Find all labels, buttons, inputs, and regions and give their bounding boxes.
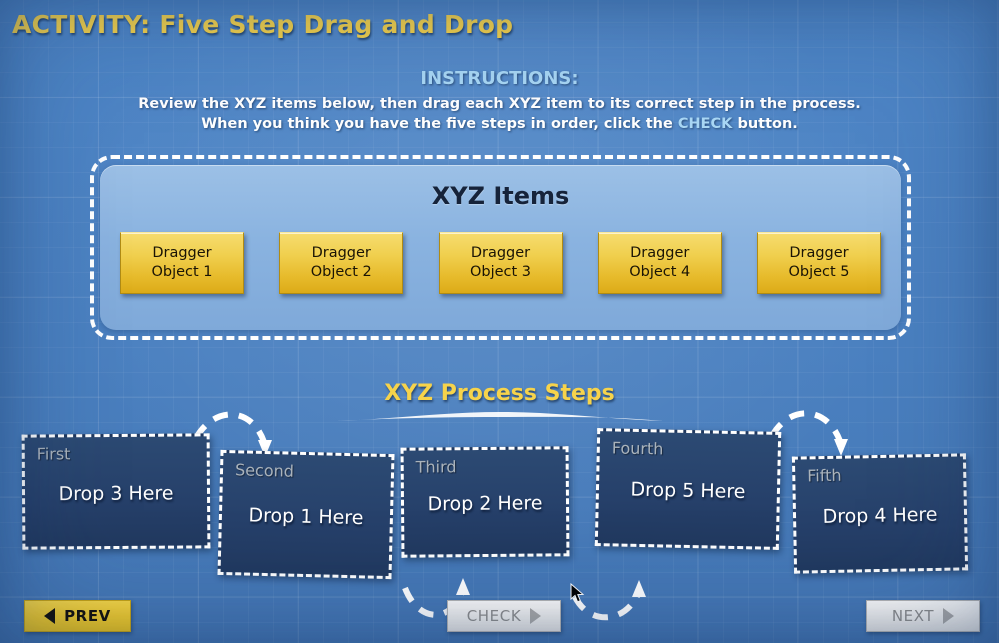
- xyz-items-panel: XYZ Items Dragger Object 1 Dragger Objec…: [90, 155, 911, 340]
- dragger-object-4-line1: Dragger: [630, 244, 689, 263]
- page-title: ACTIVITY: Five Step Drag and Drop: [12, 10, 513, 39]
- triangle-left-icon: [44, 608, 55, 624]
- dropzone-third-text: Drop 2 Here: [404, 492, 566, 515]
- dropzone-third-label: Third: [416, 457, 457, 476]
- dragger-object-5-line1: Dragger: [789, 244, 848, 263]
- dropzone-fourth-label: Fourth: [612, 438, 664, 458]
- prev-button[interactable]: PREV: [24, 600, 131, 632]
- dragger-object-1[interactable]: Dragger Object 1: [120, 232, 244, 294]
- check-button[interactable]: CHECK: [447, 600, 561, 632]
- instructions-check-keyword: CHECK: [678, 116, 733, 132]
- dragger-object-2-line1: Dragger: [312, 244, 371, 263]
- xyz-items-title: XYZ Items: [100, 182, 901, 210]
- arrow-path-4-to-5: [772, 413, 840, 441]
- swoosh-divider-icon: [335, 409, 665, 425]
- instructions-heading: INSTRUCTIONS:: [0, 66, 999, 92]
- dragger-list: Dragger Object 1 Dragger Object 2 Dragge…: [120, 232, 881, 294]
- dragger-object-5-line2: Object 5: [788, 263, 849, 282]
- dragger-object-3-line1: Dragger: [471, 244, 530, 263]
- xyz-items-panel-inner: XYZ Items Dragger Object 1 Dragger Objec…: [100, 165, 901, 330]
- dropzone-first[interactable]: First Drop 3 Here: [22, 433, 211, 549]
- dropzone-fifth-label: Fifth: [807, 466, 842, 486]
- instructions-line-2-prefix: When you think you have the five steps i…: [201, 116, 678, 132]
- dragger-object-2[interactable]: Dragger Object 2: [279, 232, 403, 294]
- dragger-object-1-line1: Dragger: [152, 244, 211, 263]
- activity-stage: ACTIVITY: Five Step Drag and Drop INSTRU…: [0, 0, 999, 643]
- dragger-object-4[interactable]: Dragger Object 4: [598, 232, 722, 294]
- dragger-object-2-line2: Object 2: [311, 263, 372, 282]
- prev-button-label: PREV: [64, 607, 111, 625]
- mouse-cursor-icon: [570, 583, 586, 605]
- arrow-path-3-to-4: [575, 594, 638, 617]
- dragger-object-3-line2: Object 3: [470, 263, 531, 282]
- dragger-object-3[interactable]: Dragger Object 3: [439, 232, 563, 294]
- dropzone-first-text: Drop 3 Here: [25, 482, 207, 505]
- instructions-line-1: Review the XYZ items below, then drag ea…: [0, 94, 999, 115]
- check-button-label: CHECK: [467, 607, 522, 625]
- arrowhead-4-to-5-icon: [834, 439, 848, 456]
- instructions-line-2: When you think you have the five steps i…: [0, 114, 999, 135]
- dropzone-fourth[interactable]: Fourth Drop 5 Here: [595, 428, 781, 550]
- dragger-object-1-line2: Object 1: [151, 263, 212, 282]
- instructions-block: INSTRUCTIONS: Review the XYZ items below…: [0, 66, 999, 135]
- dropzone-first-label: First: [37, 444, 71, 463]
- arrowhead-2-to-3-icon: [456, 578, 470, 595]
- dropzone-fourth-text: Drop 5 Here: [599, 478, 777, 504]
- process-steps-title: XYZ Process Steps: [0, 381, 999, 406]
- dragger-object-5[interactable]: Dragger Object 5: [757, 232, 881, 294]
- arrowhead-3-to-4-icon: [632, 580, 646, 597]
- triangle-right-icon: [530, 608, 541, 624]
- dropzone-third[interactable]: Third Drop 2 Here: [401, 446, 570, 557]
- dropzone-fifth-text: Drop 4 Here: [796, 503, 964, 528]
- dropzone-second-text: Drop 1 Here: [222, 503, 390, 529]
- triangle-right-icon: [943, 608, 954, 624]
- dropzone-second-label: Second: [235, 460, 294, 480]
- dropzone-second[interactable]: Second Drop 1 Here: [217, 450, 394, 579]
- next-button-label: NEXT: [892, 607, 934, 625]
- next-button[interactable]: NEXT: [866, 600, 980, 632]
- dragger-object-4-line2: Object 4: [629, 263, 690, 282]
- instructions-line-2-suffix: button.: [732, 116, 797, 132]
- dropzone-fifth[interactable]: Fifth Drop 4 Here: [792, 453, 968, 573]
